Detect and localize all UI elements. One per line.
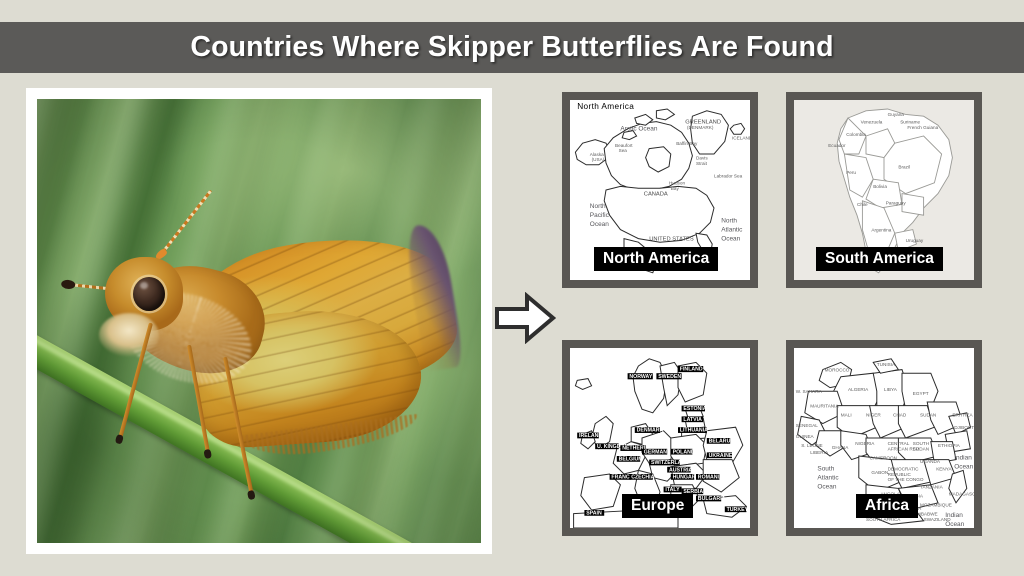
svg-text:GABON: GABON bbox=[871, 470, 888, 475]
svg-text:Strait: Strait bbox=[696, 161, 708, 166]
map-image-europe: NORWAY SWEDEN FINLAND ESTONIA LATVIA LIT… bbox=[570, 348, 750, 528]
svg-text:IRELAND: IRELAND bbox=[579, 433, 602, 439]
svg-text:Ecuador: Ecuador bbox=[828, 143, 846, 148]
svg-text:(DENMARK): (DENMARK) bbox=[687, 125, 714, 130]
svg-text:French Guiana: French Guiana bbox=[907, 125, 938, 130]
svg-text:UKRAINE: UKRAINE bbox=[709, 453, 733, 459]
map-panel-europe[interactable]: NORWAY SWEDEN FINLAND ESTONIA LATVIA LIT… bbox=[562, 340, 758, 536]
svg-text:Ocean: Ocean bbox=[590, 221, 609, 228]
map-panel-africa[interactable]: MOROCCO TUNISIA ALGERIA LIBYA EGYPT W. S… bbox=[786, 340, 982, 536]
svg-text:TANZANIA: TANZANIA bbox=[920, 484, 944, 489]
header-bar: Countries Where Skipper Butterflies Are … bbox=[0, 22, 1024, 73]
svg-text:Alaska: Alaska bbox=[590, 152, 604, 157]
svg-text:MOZAMBIQUE: MOZAMBIQUE bbox=[920, 502, 952, 507]
svg-text:MALI: MALI bbox=[841, 412, 852, 417]
svg-text:S. LEONE: S. LEONE bbox=[801, 443, 822, 448]
svg-text:POLAND: POLAND bbox=[673, 449, 695, 455]
svg-text:UNITED STATES: UNITED STATES bbox=[649, 236, 694, 242]
svg-text:Brazil: Brazil bbox=[898, 164, 910, 169]
svg-text:OF THE CONGO: OF THE CONGO bbox=[888, 477, 924, 482]
svg-text:SOUTH: SOUTH bbox=[913, 441, 929, 446]
map-panel-north-america[interactable]: North America Arctic Ocean GREENLAND (DE… bbox=[562, 92, 758, 288]
svg-text:Bay: Bay bbox=[671, 186, 680, 191]
svg-text:Atlantic: Atlantic bbox=[721, 226, 743, 233]
svg-text:HUNGARY: HUNGARY bbox=[673, 475, 700, 481]
svg-text:ESTONIA: ESTONIA bbox=[683, 406, 706, 412]
svg-text:DEMOCRATIC: DEMOCRATIC bbox=[888, 466, 920, 471]
compound-eye bbox=[133, 277, 165, 311]
map-image-africa: MOROCCO TUNISIA ALGERIA LIBYA EGYPT W. S… bbox=[794, 348, 974, 528]
svg-text:(USA): (USA) bbox=[592, 157, 605, 162]
svg-text:REPUBLIC: REPUBLIC bbox=[888, 472, 912, 477]
svg-text:Uruguay: Uruguay bbox=[906, 238, 924, 243]
svg-text:SUDAN: SUDAN bbox=[920, 412, 936, 417]
svg-text:ITALY: ITALY bbox=[665, 487, 680, 493]
svg-text:Argentina: Argentina bbox=[871, 227, 891, 232]
svg-text:Ocean: Ocean bbox=[954, 464, 973, 471]
svg-text:Peru: Peru bbox=[846, 170, 856, 175]
svg-text:W. SAHARA: W. SAHARA bbox=[796, 389, 823, 394]
svg-text:BELARUS: BELARUS bbox=[709, 439, 735, 445]
labial-palp bbox=[99, 313, 159, 357]
svg-text:Arctic Ocean: Arctic Ocean bbox=[620, 126, 657, 133]
svg-text:UGANDA: UGANDA bbox=[920, 459, 941, 464]
svg-text:Baffin Bay: Baffin Bay bbox=[676, 141, 698, 146]
svg-text:Davis: Davis bbox=[696, 155, 708, 160]
svg-text:CHAD: CHAD bbox=[893, 412, 907, 417]
svg-text:Indian: Indian bbox=[954, 455, 972, 462]
svg-text:Ocean: Ocean bbox=[945, 521, 964, 528]
svg-text:Beaufort: Beaufort bbox=[615, 143, 633, 148]
butterfly-photo-frame bbox=[26, 88, 492, 554]
page-title: Countries Where Skipper Butterflies Are … bbox=[190, 31, 833, 64]
svg-text:Indian: Indian bbox=[945, 512, 963, 519]
map-image-north-america: North America Arctic Ocean GREENLAND (DE… bbox=[570, 100, 750, 280]
svg-text:NIGER: NIGER bbox=[866, 412, 881, 417]
svg-text:Colombia: Colombia bbox=[846, 132, 866, 137]
svg-text:GERMANY: GERMANY bbox=[644, 449, 671, 455]
svg-text:Hudson: Hudson bbox=[669, 181, 685, 186]
svg-text:ERITREA: ERITREA bbox=[952, 412, 973, 417]
butterfly-photo bbox=[37, 99, 481, 543]
svg-text:KENYA: KENYA bbox=[936, 466, 952, 471]
svg-text:NIGERIA: NIGERIA bbox=[855, 441, 875, 446]
butterfly-illustration bbox=[37, 99, 481, 543]
svg-text:Ocean: Ocean bbox=[721, 235, 740, 242]
svg-text:BULGARIA: BULGARIA bbox=[698, 496, 726, 502]
svg-text:GUINEA: GUINEA bbox=[796, 434, 815, 439]
svg-text:Guyana: Guyana bbox=[888, 112, 905, 117]
svg-text:FINLAND: FINLAND bbox=[680, 367, 703, 373]
svg-text:Suriname: Suriname bbox=[900, 119, 920, 124]
svg-text:Ocean: Ocean bbox=[817, 483, 836, 490]
svg-text:Atlantic: Atlantic bbox=[817, 474, 839, 481]
svg-text:NORWAY: NORWAY bbox=[629, 374, 652, 380]
svg-text:SWITZERLAND: SWITZERLAND bbox=[651, 460, 689, 466]
svg-text:Venezuela: Venezuela bbox=[861, 119, 883, 124]
map-caption-south-america: South America bbox=[816, 247, 943, 271]
svg-text:ETHIOPIA: ETHIOPIA bbox=[938, 443, 961, 448]
svg-text:DENMARK: DENMARK bbox=[637, 428, 664, 434]
svg-text:SWEDEN: SWEDEN bbox=[658, 374, 681, 380]
svg-text:GHANA: GHANA bbox=[832, 445, 849, 450]
svg-text:BELGIUM: BELGIUM bbox=[619, 457, 643, 463]
svg-text:CENTRAL: CENTRAL bbox=[888, 441, 910, 446]
svg-text:LIBERIA: LIBERIA bbox=[810, 450, 829, 455]
antenna-upper bbox=[162, 190, 212, 253]
map-caption-north-america: North America bbox=[594, 247, 718, 271]
map-caption-africa: Africa bbox=[856, 494, 918, 518]
svg-text:Bolivia: Bolivia bbox=[873, 184, 887, 189]
svg-text:CAMEROON: CAMEROON bbox=[870, 456, 897, 461]
svg-text:SUDAN: SUDAN bbox=[913, 447, 929, 452]
svg-text:LIBYA: LIBYA bbox=[884, 387, 898, 392]
svg-text:Chile: Chile bbox=[857, 202, 868, 207]
map-panel-south-america[interactable]: Guyana Venezuela Suriname French Guiana … bbox=[786, 92, 982, 288]
svg-text:TURKEY: TURKEY bbox=[727, 507, 749, 513]
map-internal-title: North America bbox=[577, 102, 634, 111]
svg-text:ROMANIA: ROMANIA bbox=[698, 475, 723, 481]
svg-text:CANADA: CANADA bbox=[644, 191, 668, 197]
svg-text:Labrador Sea: Labrador Sea bbox=[714, 173, 743, 178]
svg-text:CZECHIA: CZECHIA bbox=[631, 475, 654, 481]
svg-text:EGYPT: EGYPT bbox=[913, 391, 929, 396]
svg-text:SPAIN: SPAIN bbox=[586, 511, 602, 517]
svg-text:AUSTRIA: AUSTRIA bbox=[669, 467, 692, 473]
svg-text:North: North bbox=[590, 203, 606, 210]
svg-text:North: North bbox=[721, 217, 737, 224]
svg-text:Pacific: Pacific bbox=[590, 212, 610, 219]
svg-text:TUNISIA: TUNISIA bbox=[877, 362, 896, 367]
svg-text:MADAGASCAR: MADAGASCAR bbox=[949, 492, 974, 497]
svg-text:DJIBOUTI: DJIBOUTI bbox=[954, 425, 974, 430]
svg-text:Sea: Sea bbox=[619, 148, 628, 153]
svg-text:SENEGAL: SENEGAL bbox=[796, 423, 818, 428]
svg-text:ALGERIA: ALGERIA bbox=[848, 387, 869, 392]
right-arrow-icon bbox=[494, 292, 556, 344]
svg-text:MAURITANIA: MAURITANIA bbox=[810, 403, 839, 408]
svg-text:LITHUANIA: LITHUANIA bbox=[680, 428, 708, 434]
map-image-south-america: Guyana Venezuela Suriname French Guiana … bbox=[794, 100, 974, 280]
svg-text:MOROCCO: MOROCCO bbox=[825, 367, 850, 372]
svg-text:Paraguay: Paraguay bbox=[886, 200, 907, 205]
svg-text:South: South bbox=[817, 465, 834, 472]
svg-text:ICELAND: ICELAND bbox=[732, 136, 750, 141]
map-caption-europe: Europe bbox=[622, 494, 693, 518]
svg-text:LATVIA: LATVIA bbox=[683, 417, 702, 423]
